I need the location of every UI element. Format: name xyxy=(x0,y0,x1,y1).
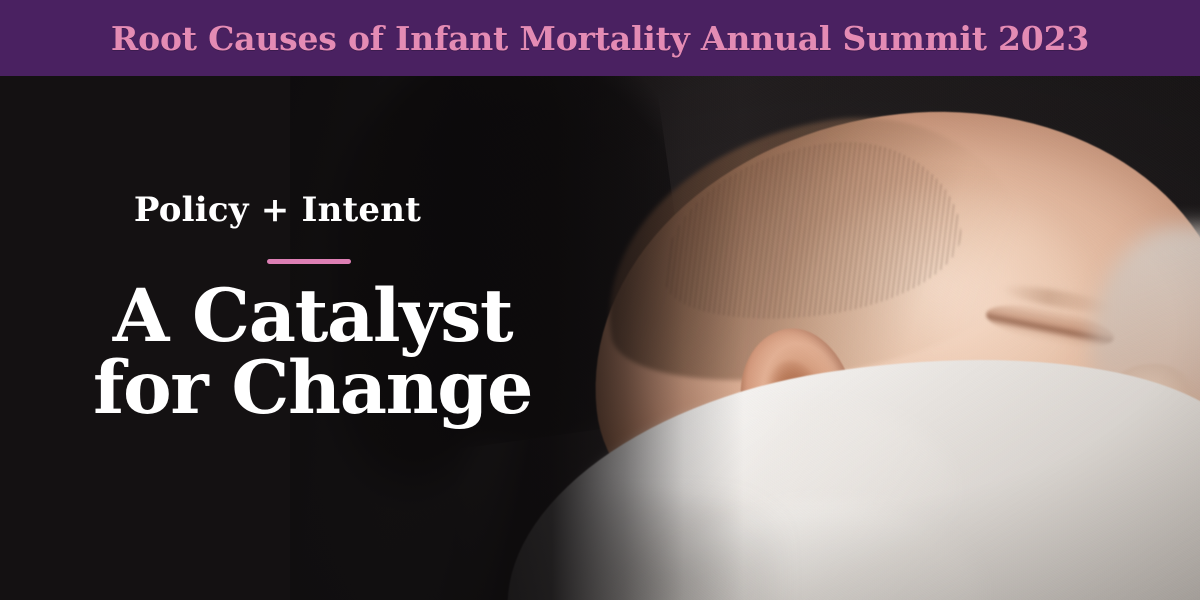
event-banner: Root Causes of Infant Mortality Annual S… xyxy=(0,0,1200,600)
hero-headline-line-1: A Catalyst xyxy=(0,281,625,353)
hero-divider-rule xyxy=(267,259,351,264)
event-title: Root Causes of Infant Mortality Annual S… xyxy=(111,22,1089,55)
header-bar: Root Causes of Infant Mortality Annual S… xyxy=(0,0,1200,76)
hero-kicker: Policy + Intent xyxy=(0,193,555,227)
hero-headline: A Catalyst for Change xyxy=(0,281,625,424)
hero-headline-line-2: for Change xyxy=(0,353,625,425)
hero-text-block: Policy + Intent A Catalyst for Change xyxy=(0,76,620,600)
